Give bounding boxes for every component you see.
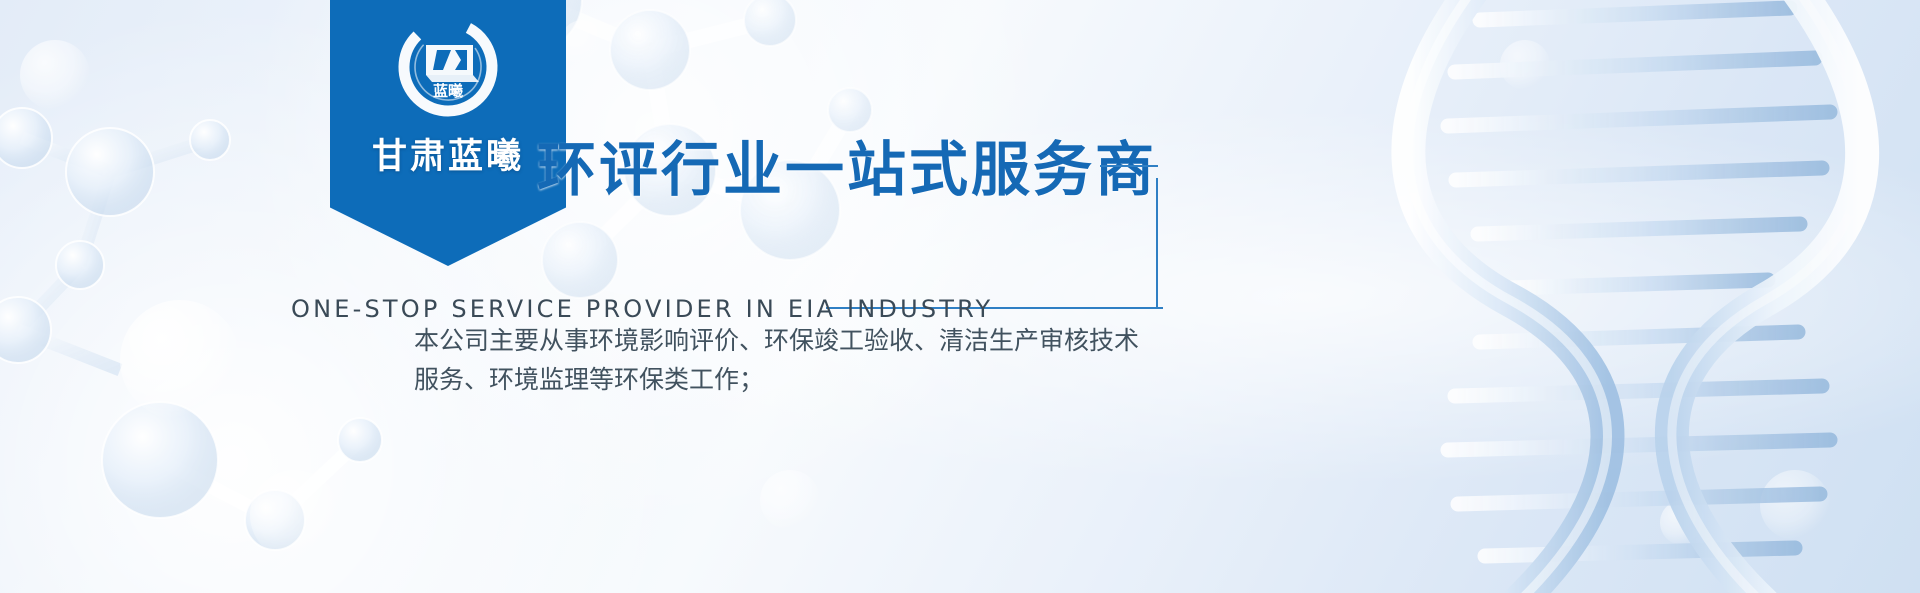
- bokeh-light-dots: [250, 470, 340, 560]
- description-line: 本公司主要从事环境影响评价、环保竣工验收、清洁生产审核技术: [414, 322, 1204, 361]
- company-name: 甘肃蓝曦: [330, 128, 566, 179]
- company-logo-mark: 蓝曦: [393, 12, 503, 122]
- bokeh-light-dots: [560, 20, 605, 65]
- bokeh-light-dots: [760, 470, 820, 530]
- hero-banner: 蓝曦 甘肃蓝曦 环评行业一站式服务商 ONE-STOP SERVICE PROV…: [0, 0, 1920, 593]
- bokeh-light-dots: [1500, 40, 1550, 90]
- molecule-cluster-graphic: [0, 20, 360, 440]
- molecule-cluster-graphic-lower: [60, 370, 400, 593]
- accent-vertical-rule: [1156, 178, 1158, 309]
- description-text: 本公司主要从事环境影响评价、环保竣工验收、清洁生产审核技术 服务、环境监理等环保…: [414, 322, 1204, 400]
- bokeh-light-dots: [120, 300, 240, 420]
- bokeh-light-dots: [1660, 500, 1705, 545]
- logo-text: 蓝曦: [433, 82, 463, 100]
- dna-helix-graphic: [1360, 0, 1920, 593]
- brand-ribbon: 蓝曦 甘肃蓝曦: [330, 0, 566, 266]
- bokeh-light-dots: [1760, 470, 1830, 540]
- description-line: 服务、环境监理等环保类工作；: [414, 361, 1204, 400]
- description-block: 本公司主要从事环境影响评价、环保竣工验收、清洁生产审核技术 服务、环境监理等环保…: [414, 322, 1214, 400]
- page-subtitle: ONE-STOP SERVICE PROVIDER IN EIA INDUSTR…: [291, 295, 993, 323]
- bokeh-light-dots: [20, 40, 90, 110]
- page-title: 环评行业一站式服务商: [537, 140, 1157, 199]
